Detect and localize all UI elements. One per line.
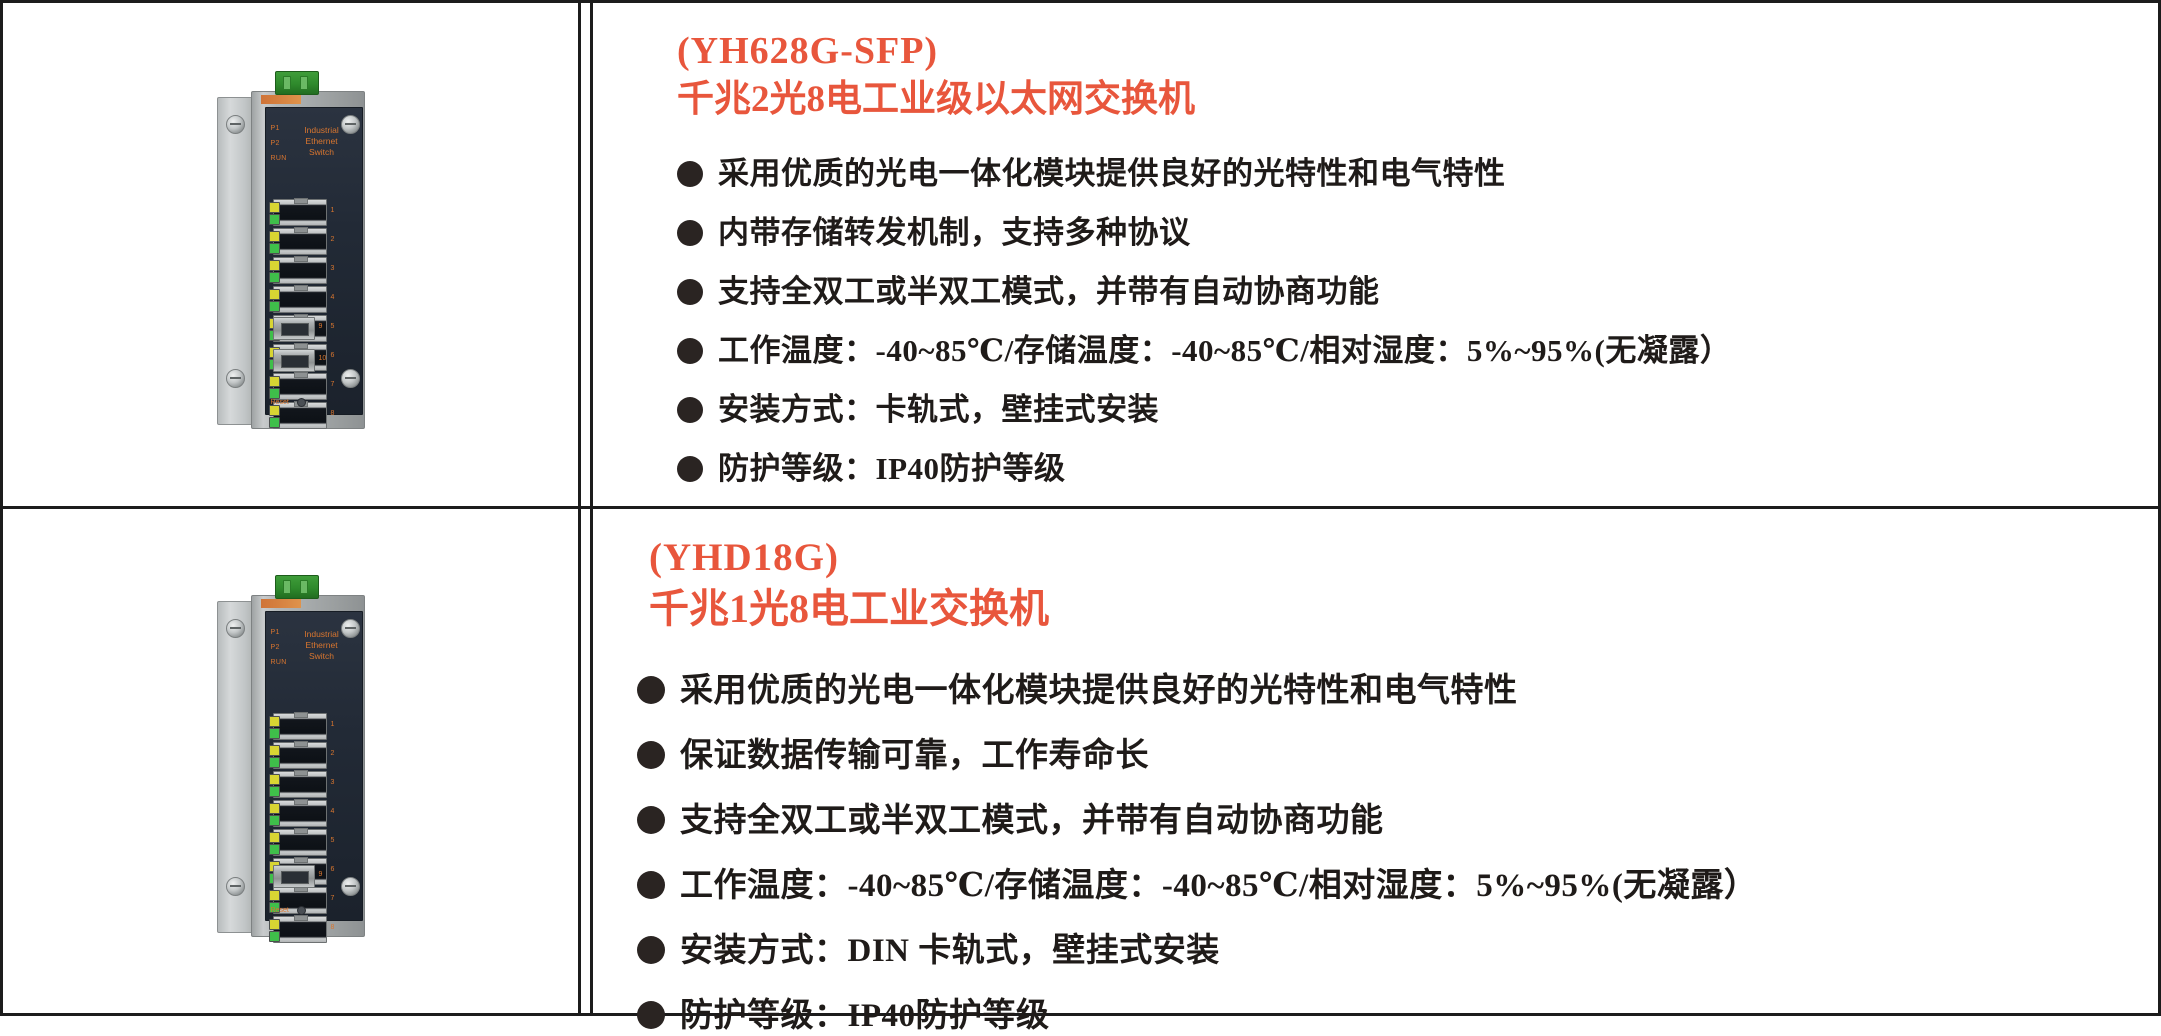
rj45-port: 3 [273, 257, 327, 284]
product-row: P1 P2 RUN Industrial Ethernet Switch 1 [0, 506, 2161, 1016]
feature-text: 工作温度：-40~85℃/存储温度：-40~85℃/相对湿度：5%~95%(无凝… [680, 858, 1757, 906]
reset-button-area: Reset [271, 906, 306, 915]
port-number: 1 [331, 207, 335, 214]
product-model-code: (YH628G-SFP) [677, 29, 2158, 74]
port-notch [294, 256, 308, 262]
status-label-p1: P1 [271, 625, 287, 640]
led-yellow-icon [269, 803, 280, 814]
led-yellow-icon [269, 716, 280, 727]
feature-item: 防护等级：IP40防护等级 [637, 443, 2158, 488]
rj45-port: 2 [273, 742, 327, 769]
rj45-port: 1 [273, 713, 327, 740]
port-number: 8 [331, 410, 335, 417]
device-illustration: P1 P2 RUN Industrial Ethernet Switch 1 [217, 585, 365, 937]
led-yellow-icon [269, 745, 280, 756]
feature-item: 防护等级：IP40防护等级 [637, 988, 2158, 1036]
product-title-block: (YHD18G) 千兆1光8电工业交换机 [637, 535, 2158, 633]
port-number: 3 [331, 779, 335, 786]
led-green-icon [269, 815, 280, 826]
feature-text: 采用优质的光电一体化模块提供良好的光特性和电气特性 [680, 663, 1518, 711]
feature-text: 防护等级：IP40防护等级 [718, 443, 1066, 488]
product-model-name: 千兆2光8电工业级以太网交换机 [677, 78, 2158, 122]
port-number: 5 [331, 323, 335, 330]
feature-item: 采用优质的光电一体化模块提供良好的光特性和电气特性 [637, 148, 2158, 193]
led-yellow-icon [269, 289, 280, 300]
sfp-port: 9 [273, 317, 315, 340]
bullet-dot-icon [677, 220, 703, 246]
led-green-icon [269, 728, 280, 739]
led-green-icon [269, 243, 280, 254]
bullet-dot-icon [677, 456, 703, 482]
sfp-port-stack: 9 10 [273, 317, 315, 381]
rj45-port: 5 [273, 829, 327, 856]
port-notch [294, 857, 308, 863]
feature-item: 内带存储转发机制，支持多种协议 [637, 207, 2158, 252]
feature-item: 支持全双工或半双工模式，并带有自动协商功能 [637, 266, 2158, 311]
top-orange-strip [261, 599, 301, 608]
bullet-dot-icon [677, 161, 703, 187]
port-number: 1 [331, 721, 335, 728]
port-number: 9 [319, 323, 323, 330]
led-green-icon [269, 417, 280, 428]
feature-item: 保证数据传输可靠，工作寿命长 [637, 728, 2158, 776]
bullet-dot-icon [637, 676, 665, 704]
bullet-dot-icon [677, 397, 703, 423]
power-terminal-block-icon [275, 71, 319, 95]
led-green-icon [269, 301, 280, 312]
rj45-port: 4 [273, 286, 327, 313]
rj45-port-stack: 1 2 3 [273, 199, 343, 431]
reset-label: Reset [271, 399, 289, 406]
port-number: 2 [331, 236, 335, 243]
rj45-port: 2 [273, 228, 327, 255]
port-number: 8 [331, 924, 335, 931]
bullet-dot-icon [637, 871, 665, 899]
screw-icon [226, 619, 245, 638]
port-number: 4 [331, 808, 335, 815]
led-yellow-icon [269, 832, 280, 843]
screw-icon [341, 369, 360, 388]
feature-text: 支持全双工或半双工模式，并带有自动协商功能 [680, 793, 1384, 841]
feature-item: 支持全双工或半双工模式，并带有自动协商功能 [637, 793, 2158, 841]
status-led-labels: P1 P2 RUN [271, 625, 287, 670]
product-text-cell: (YH628G-SFP) 千兆2光8电工业级以太网交换机 采用优质的光电一体化模… [581, 3, 2158, 506]
reset-button-icon [297, 398, 306, 407]
led-yellow-icon [269, 202, 280, 213]
led-green-icon [269, 272, 280, 283]
sfp-port: 9 [273, 865, 315, 888]
feature-text: 支持全双工或半双工模式，并带有自动协商功能 [718, 266, 1380, 311]
screw-icon [341, 877, 360, 896]
port-number: 10 [319, 355, 327, 362]
status-led-labels: P1 P2 RUN [271, 121, 287, 166]
led-yellow-icon [269, 260, 280, 271]
feature-item: 安装方式：DIN 卡轨式，壁挂式安装 [637, 923, 2158, 971]
power-terminal-block-icon [275, 575, 319, 599]
rj45-port: 4 [273, 800, 327, 827]
led-green-icon [269, 214, 280, 225]
brand-line-2: Switch [291, 651, 353, 662]
bullet-dot-icon [637, 936, 665, 964]
bullet-dot-icon [637, 806, 665, 834]
bullet-dot-icon [677, 338, 703, 364]
sfp-port: 10 [273, 349, 315, 372]
led-yellow-icon [269, 774, 280, 785]
port-number: 9 [319, 871, 323, 878]
screw-icon [341, 619, 360, 638]
port-notch [294, 285, 308, 291]
port-number: 6 [331, 866, 335, 873]
port-number: 7 [331, 381, 335, 388]
screw-icon [226, 877, 245, 896]
feature-list: 采用优质的光电一体化模块提供良好的光特性和电气特性 内带存储转发机制，支持多种协… [637, 148, 2158, 488]
feature-text: 采用优质的光电一体化模块提供良好的光特性和电气特性 [718, 148, 1506, 193]
status-label-run: RUN [271, 151, 287, 166]
feature-list: 采用优质的光电一体化模块提供良好的光特性和电气特性 保证数据传输可靠，工作寿命长… [637, 663, 2158, 1036]
port-notch [294, 741, 308, 747]
product-title-block: (YH628G-SFP) 千兆2光8电工业级以太网交换机 [637, 29, 2158, 122]
screw-icon [226, 115, 245, 134]
led-yellow-icon [269, 231, 280, 242]
product-row: P1 P2 RUN Industrial Ethernet Switch 1 [0, 0, 2161, 506]
led-green-icon [269, 786, 280, 797]
bullet-dot-icon [637, 1001, 665, 1029]
bullet-dot-icon [637, 741, 665, 769]
rj45-port: 3 [273, 771, 327, 798]
status-label-p1: P1 [271, 121, 287, 136]
brand-line-2: Switch [291, 147, 353, 158]
rj45-port: 1 [273, 199, 327, 226]
port-notch [294, 799, 308, 805]
reset-button-icon [297, 906, 306, 915]
feature-text: 安装方式：DIN 卡轨式，壁挂式安装 [680, 923, 1220, 971]
device-illustration: P1 P2 RUN Industrial Ethernet Switch 1 [217, 81, 365, 429]
reset-button-area: Reset [271, 398, 306, 407]
rj45-port: 8 [273, 916, 327, 943]
screw-icon [226, 369, 245, 388]
led-green-icon [269, 757, 280, 768]
port-number: 3 [331, 265, 335, 272]
screw-icon [341, 115, 360, 134]
product-image-cell: P1 P2 RUN Industrial Ethernet Switch 1 [3, 3, 581, 506]
port-number: 6 [331, 352, 335, 359]
feature-text: 防护等级：IP40防护等级 [680, 988, 1050, 1036]
feature-item: 采用优质的光电一体化模块提供良好的光特性和电气特性 [637, 663, 2158, 711]
feature-item: 工作温度：-40~85℃/存储温度：-40~85℃/相对湿度：5%~95%(无凝… [637, 325, 2158, 370]
port-notch [294, 770, 308, 776]
port-notch [294, 828, 308, 834]
led-green-icon [269, 931, 280, 942]
product-catalog: P1 P2 RUN Industrial Ethernet Switch 1 [0, 0, 2161, 1022]
status-label-run: RUN [271, 655, 287, 670]
product-model-name: 千兆1光8电工业交换机 [649, 585, 2158, 633]
port-number: 5 [331, 837, 335, 844]
feature-text: 工作温度：-40~85℃/存储温度：-40~85℃/相对湿度：5%~95%(无凝… [718, 325, 1731, 370]
feature-text: 保证数据传输可靠，工作寿命长 [680, 728, 1149, 776]
feature-item: 安装方式：卡轨式，壁挂式安装 [637, 384, 2158, 429]
led-yellow-icon [269, 919, 280, 930]
product-text-cell: (YHD18G) 千兆1光8电工业交换机 采用优质的光电一体化模块提供良好的光特… [581, 509, 2158, 1013]
feature-item: 工作温度：-40~85℃/存储温度：-40~85℃/相对湿度：5%~95%(无凝… [637, 858, 2158, 906]
feature-text: 安装方式：卡轨式，壁挂式安装 [718, 384, 1159, 429]
status-label-p2: P2 [271, 136, 287, 151]
port-number: 2 [331, 750, 335, 757]
product-image-cell: P1 P2 RUN Industrial Ethernet Switch 1 [3, 509, 581, 1013]
bullet-dot-icon [677, 279, 703, 305]
port-notch [294, 198, 308, 204]
port-notch [294, 712, 308, 718]
port-notch [294, 915, 308, 921]
product-model-code: (YHD18G) [649, 535, 2158, 581]
status-label-p2: P2 [271, 640, 287, 655]
top-orange-strip [261, 95, 301, 104]
reset-label: Reset [271, 907, 289, 914]
sfp-port-stack: 9 [273, 865, 315, 897]
port-notch [294, 227, 308, 233]
feature-text: 内带存储转发机制，支持多种协议 [718, 207, 1191, 252]
port-number: 4 [331, 294, 335, 301]
port-number: 7 [331, 895, 335, 902]
led-green-icon [269, 844, 280, 855]
